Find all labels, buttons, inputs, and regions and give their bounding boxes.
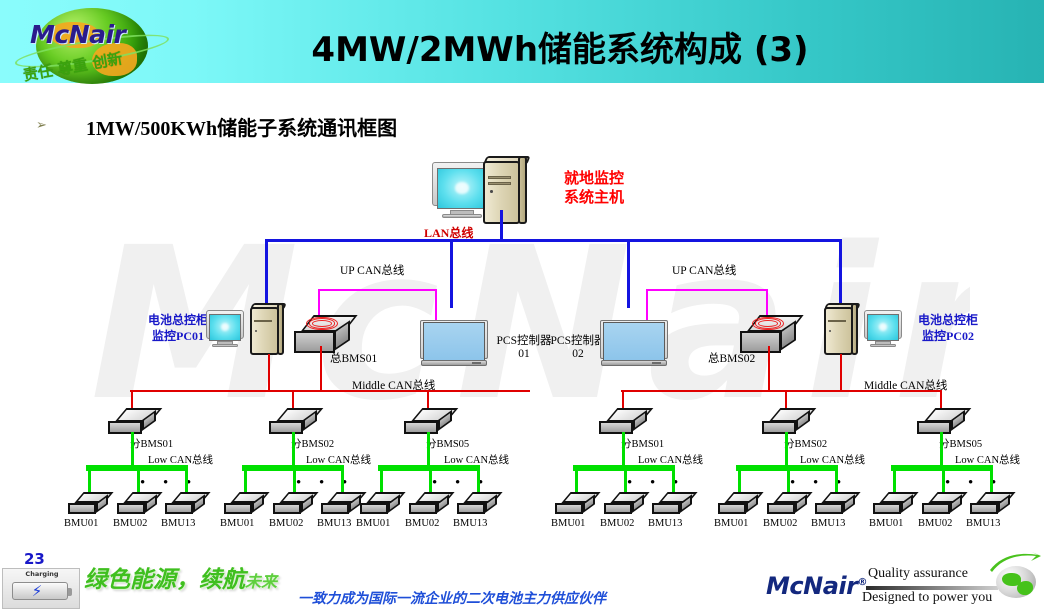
- bmu-4-1: [767, 492, 807, 514]
- footer-slogan-main-tail: 未来: [245, 572, 277, 591]
- footer-globe-icon: [996, 566, 1036, 598]
- low-can-drop-3: [622, 432, 625, 466]
- low-can-drop-1: [292, 432, 295, 466]
- slab-front-face: [873, 503, 901, 514]
- sub-bms-05-right: [917, 408, 965, 434]
- up-can-right-drop-pcs: [646, 289, 648, 322]
- low-can-drop-5: [940, 432, 943, 466]
- bmu-label-2-0: BMU01: [356, 518, 390, 529]
- charging-widget: Charging ⚡: [2, 568, 80, 609]
- middle-can-right-line: [621, 390, 941, 392]
- bmu-label-2-2: BMU13: [453, 518, 487, 529]
- bmu-label-3-0: BMU01: [551, 518, 585, 529]
- bmu-3-2: [652, 492, 692, 514]
- up-can-right-label: UP CAN总线: [672, 262, 736, 278]
- pc02-label: 电池总控柜 监控PC02: [908, 312, 988, 344]
- low-can-bus-0: [86, 465, 186, 471]
- slab-front-face: [165, 503, 193, 514]
- title-bar: McNair 责任 尊重 创新 4MW/2MWh储能系统构成 (3): [0, 0, 1044, 83]
- sub-bms-01-left: [108, 408, 156, 434]
- pc02-monitor-base: [870, 344, 896, 347]
- middle-can-left-up-pc: [268, 354, 270, 391]
- slab-front-face: [970, 503, 998, 514]
- middle-can-right-up-bms: [768, 346, 770, 391]
- slab-front-face: [360, 503, 388, 514]
- low-can-bus-2: [378, 465, 478, 471]
- slab-front-face: [718, 503, 746, 514]
- tower-drive-slot-2: [488, 182, 511, 185]
- bmu-2-1: [409, 492, 449, 514]
- bmu-1-1: [273, 492, 313, 514]
- bmu-label-2-1: BMU02: [405, 518, 439, 529]
- pc01-tower: [250, 303, 284, 355]
- pcs01-screen: [423, 322, 486, 362]
- slab-front-face: [321, 503, 349, 514]
- slab-front-face: [409, 503, 437, 514]
- footer-brand-text: McNair: [766, 572, 857, 600]
- sub-bms-label-1: 分BMS02: [291, 436, 334, 451]
- pcs02-foot: [601, 360, 666, 366]
- pc02-label-line1: 电池总控柜: [908, 312, 988, 328]
- low-can-bus-4: [736, 465, 836, 471]
- slab-front-face: [404, 421, 438, 434]
- pc02-monitor: [864, 310, 902, 347]
- pc01-monitor-screen: [209, 314, 240, 341]
- slab-front-face: [922, 503, 950, 514]
- pc02-tower-side: [851, 303, 858, 355]
- host-label: 就地监控 系统主机: [546, 170, 642, 208]
- low-can-drop-2: [427, 432, 430, 466]
- bmu-5-2: [970, 492, 1010, 514]
- sub-bms-01-right: [599, 408, 647, 434]
- ellipsis-0: • • •: [140, 475, 198, 492]
- slab-front-face: [555, 503, 583, 514]
- lan-drop-pcs02: [627, 239, 630, 308]
- pc01-monitor-base: [212, 344, 238, 347]
- bmu-label-1-2: BMU13: [317, 518, 351, 529]
- bmu-label-0-1: BMU02: [113, 518, 147, 529]
- bmu-0-2: [165, 492, 205, 514]
- host-label-line1: 就地监控: [546, 170, 642, 189]
- pc01-slot: [254, 320, 272, 322]
- footer-quality-line2: Designed to power you: [862, 590, 992, 606]
- lightning-bolt-icon: ⚡: [25, 582, 49, 600]
- up-can-right-line: [646, 289, 766, 291]
- ellipsis-1: • • •: [296, 475, 354, 492]
- middle-can-left-line: [130, 390, 530, 392]
- page-title: 4MW/2MWh储能系统构成 (3): [250, 22, 870, 71]
- up-can-left-line: [318, 289, 435, 291]
- bmu-0-1: [117, 492, 157, 514]
- bmu-label-4-1: BMU02: [763, 518, 797, 529]
- pc01-monitor: [206, 310, 244, 347]
- ellipsis-3: • • •: [627, 475, 685, 492]
- bmu-label-1-1: BMU02: [269, 518, 303, 529]
- footer-slogan-main-text: 绿色能源，续航: [84, 567, 245, 593]
- tower-led: [490, 190, 493, 193]
- low-can-bus-5: [891, 465, 991, 471]
- sub-bms-label-4: 分BMS02: [784, 436, 827, 451]
- bullet-icon: ➢: [36, 118, 47, 133]
- pcs-controller-02: [600, 320, 668, 366]
- sub-bms-02-left: [269, 408, 317, 434]
- slab-front-face: [599, 421, 633, 434]
- sub-bms-05-left: [404, 408, 452, 434]
- slab-front-face: [815, 503, 843, 514]
- mcnair-logo: McNair 责任 尊重 创新: [8, 0, 176, 92]
- pc01-tower-side: [277, 303, 284, 355]
- master-bms02-label: 总BMS02: [708, 350, 755, 366]
- bmu-label-5-1: BMU02: [918, 518, 952, 529]
- bmu-3-1: [604, 492, 644, 514]
- master-bms01: [294, 315, 350, 353]
- up-can-left-drop-pcs: [435, 289, 437, 322]
- tower-drive-slot: [488, 176, 511, 179]
- lan-drop-host: [500, 210, 503, 239]
- pc01-tower-body: [250, 307, 279, 355]
- footer-quality-line1: Quality assurance: [868, 566, 968, 582]
- bmu-label-3-1: BMU02: [600, 518, 634, 529]
- bmu-label-5-2: BMU13: [966, 518, 1000, 529]
- slab-front-face: [108, 421, 142, 434]
- slab-front-face: [224, 503, 252, 514]
- middle-can-right-up-pc: [840, 354, 842, 391]
- bmu-label-4-2: BMU13: [811, 518, 845, 529]
- low-can-drop-0: [131, 432, 134, 466]
- middle-can-left-up-bms: [320, 346, 322, 391]
- pcs-controller-01: [420, 320, 488, 366]
- pcs02-screen: [603, 322, 666, 362]
- slab-front-face: [767, 503, 795, 514]
- sub-bms-02-right: [762, 408, 810, 434]
- bmu-2-0: [360, 492, 400, 514]
- bmu-label-4-0: BMU01: [714, 518, 748, 529]
- bmu-0-0: [68, 492, 108, 514]
- slab-front-face: [917, 421, 951, 434]
- bmu-3-0: [555, 492, 595, 514]
- bmu-5-1: [922, 492, 962, 514]
- bmu-1-2: [321, 492, 361, 514]
- low-can-drop-4: [785, 432, 788, 466]
- bmu-5-0: [873, 492, 913, 514]
- monitor-screen: [437, 168, 486, 209]
- host-label-line2: 系统主机: [546, 189, 642, 208]
- sub-bms-label-0: 分BMS01: [130, 436, 173, 451]
- pc02-tower-body: [824, 307, 853, 355]
- slab-front-face: [68, 503, 96, 514]
- page-number: 23: [24, 550, 45, 568]
- bmu-label-1-0: BMU01: [220, 518, 254, 529]
- bmu-label-0-2: BMU13: [161, 518, 195, 529]
- monitor-base: [442, 214, 483, 218]
- master-bms01-label: 总BMS01: [330, 350, 377, 366]
- logo-wordmark-text: McNair: [30, 20, 125, 49]
- bmu-label-0-0: BMU01: [64, 518, 98, 529]
- footer-slogan-main: 绿色能源，续航未来: [84, 560, 277, 594]
- bmu-4-2: [815, 492, 855, 514]
- ellipsis-5: • • •: [945, 475, 1003, 492]
- bmu-label-3-2: BMU13: [648, 518, 682, 529]
- bmu-2-2: [457, 492, 497, 514]
- charging-label: Charging: [3, 570, 81, 578]
- sub-bms-label-2: 分BMS05: [426, 436, 469, 451]
- ellipsis-4: • • •: [790, 475, 848, 492]
- ellipsis-2: • • •: [432, 475, 490, 492]
- low-can-bus-3: [573, 465, 673, 471]
- lan-bus-line: [265, 239, 839, 242]
- slab-front-face: [762, 421, 796, 434]
- tower-side-panel: [518, 156, 527, 224]
- sub-bms-label-3: 分BMS01: [621, 436, 664, 451]
- up-can-left-label: UP CAN总线: [340, 262, 404, 278]
- lan-drop-pcs01: [450, 239, 453, 308]
- diagram-canvas: McNair 就地监控 系统主机 LAN总线 UP CAN总线 UP CAN总线…: [0, 150, 1044, 550]
- bmu-1-0: [224, 492, 264, 514]
- pc02-monitor-screen: [867, 314, 898, 341]
- pc02-slot: [828, 320, 846, 322]
- slab-front-face: [652, 503, 680, 514]
- subtitle-text: 1MW/500KWh储能子系统通讯框图: [86, 112, 397, 141]
- slab-front-face: [269, 421, 303, 434]
- footer-slogan-sub: 一致力成为国际一流企业的二次电池主力供应伙伴: [298, 588, 606, 608]
- sub-bms-label-5: 分BMS05: [939, 436, 982, 451]
- slab-front-face: [273, 503, 301, 514]
- pcs01-foot: [421, 360, 486, 366]
- pc02-label-line2: 监控PC02: [908, 328, 988, 344]
- slab-front-face: [604, 503, 632, 514]
- slab-front-face: [457, 503, 485, 514]
- footer-brand: McNair®: [766, 572, 867, 600]
- slab-front-face: [117, 503, 145, 514]
- host-tower-pc: [483, 156, 527, 224]
- bmu-label-5-0: BMU01: [869, 518, 903, 529]
- pc02-tower: [824, 303, 858, 355]
- bmu-4-0: [718, 492, 758, 514]
- low-can-bus-1: [242, 465, 342, 471]
